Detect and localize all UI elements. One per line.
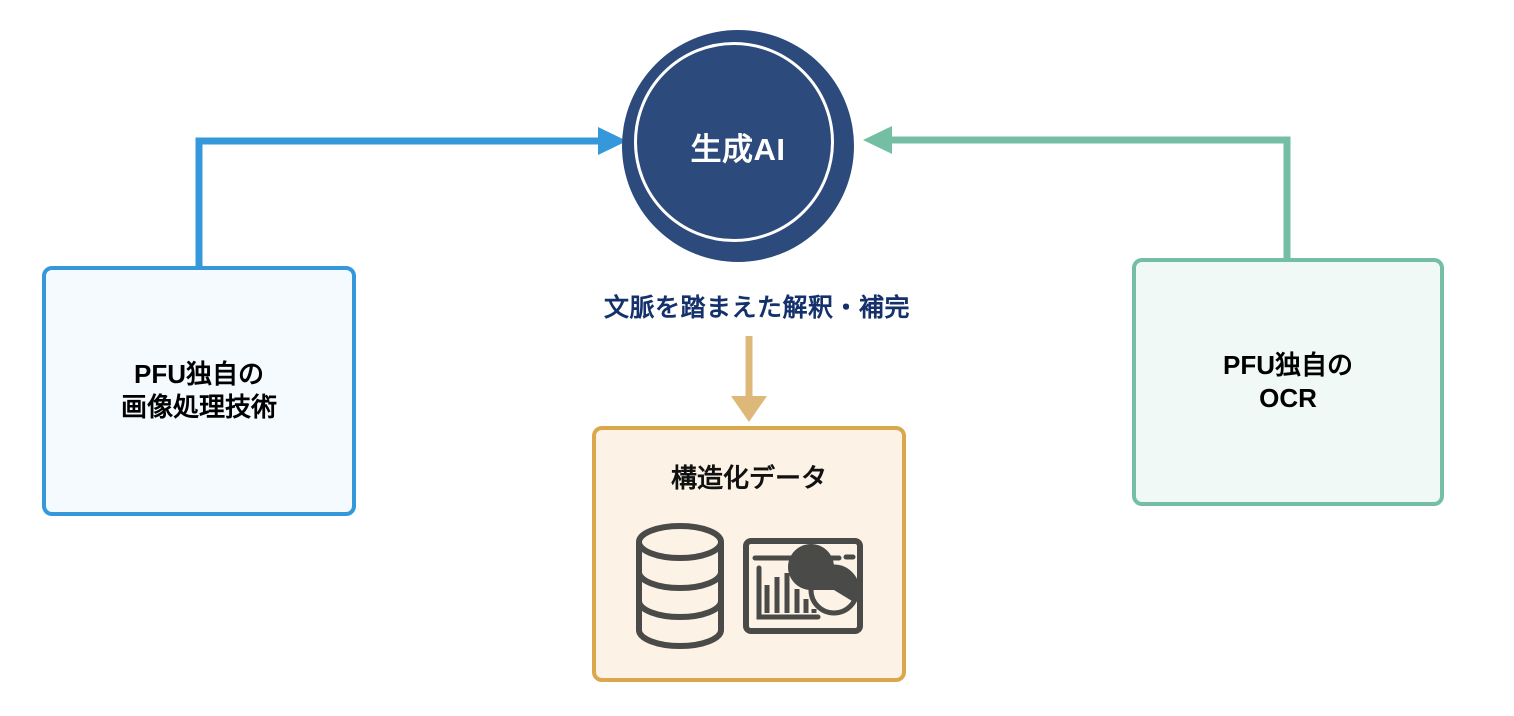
connector-right-to-center-path: [890, 140, 1287, 260]
flow-label-interpretation: 文脈を踏まえた解釈・補完: [0, 288, 1514, 324]
connector-right-to-center: [863, 126, 1287, 260]
node-ocr-label: PFU独自の OCR: [1223, 349, 1353, 416]
connector-left-to-center-path: [199, 141, 600, 268]
diagram-canvas: 生成AI PFU独自の 画像処理技術 PFU独自の OCR 文脈を踏まえた解釈・…: [0, 0, 1514, 716]
node-generative-ai[interactable]: 生成AI: [622, 30, 854, 262]
connector-right-to-center-arrowhead: [863, 126, 892, 154]
dashboard-chart-icon: [742, 537, 864, 635]
node-generative-ai-label: 生成AI: [691, 124, 786, 169]
output-icon-group: [596, 520, 902, 652]
node-image-processing-label: PFU独自の 画像処理技術: [121, 358, 277, 425]
node-structured-data-label: 構造化データ: [596, 458, 902, 495]
connector-center-to-output: [731, 336, 767, 422]
connector-center-to-output-arrowhead: [731, 396, 767, 422]
database-cylinder-icon: [634, 520, 726, 652]
connector-left-to-center: [199, 127, 627, 268]
node-structured-data[interactable]: 構造化データ: [592, 426, 906, 682]
